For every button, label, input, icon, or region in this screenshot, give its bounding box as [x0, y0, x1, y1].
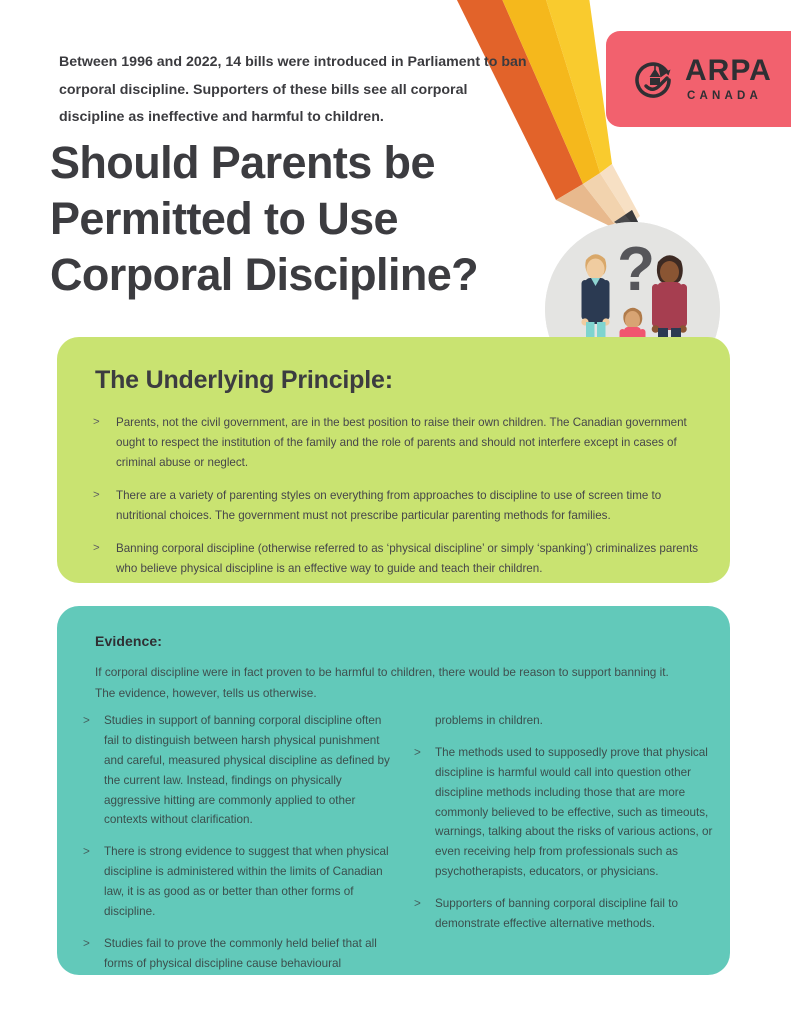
chevron-right-icon: > — [414, 743, 435, 882]
chevron-right-icon: > — [83, 711, 104, 830]
list-item-text: The methods used to supposedly prove tha… — [435, 743, 723, 882]
principle-title: The Underlying Principle: — [95, 366, 393, 395]
principle-bullet-list: > Parents, not the civil government, are… — [93, 413, 699, 592]
arpa-logo-badge[interactable]: ARPA CANADA — [606, 31, 791, 127]
page-title: Should Parents be Permitted to Use Corpo… — [50, 135, 590, 302]
infographic-page: ARPA CANADA Between 1996 and 2022, 14 bi… — [0, 0, 791, 1024]
underlying-principle-panel: The Underlying Principle: > Parents, not… — [57, 337, 730, 583]
arpa-canada-subtitle: CANADA — [685, 90, 772, 102]
list-item: > There is strong evidence to suggest th… — [83, 842, 392, 922]
list-item-text: Supporters of banning corporal disciplin… — [435, 894, 723, 934]
arpa-logo-text: ARPA CANADA — [685, 56, 772, 102]
evidence-bullet-list: > Studies in support of banning corporal… — [83, 711, 723, 974]
list-item-text: There are a variety of parenting styles … — [116, 486, 699, 526]
list-item-text: Banning corporal discipline (otherwise r… — [116, 539, 699, 579]
chevron-right-icon: > — [414, 894, 435, 934]
chevron-right-icon: > — [93, 486, 116, 526]
list-item: > Supporters of banning corporal discipl… — [414, 894, 723, 934]
evidence-panel: Evidence: If corporal discipline were in… — [57, 606, 730, 975]
list-item: > The methods used to supposedly prove t… — [414, 743, 723, 882]
list-item: > Banning corporal discipline (otherwise… — [93, 539, 699, 579]
chevron-right-icon: > — [93, 539, 116, 579]
list-item-text: Parents, not the civil government, are i… — [116, 413, 699, 473]
intro-paragraph: Between 1996 and 2022, 14 bills were int… — [59, 49, 529, 132]
list-item: > Studies in support of banning corporal… — [83, 711, 392, 830]
list-item-text: There is strong evidence to suggest that… — [104, 842, 392, 922]
list-item-text: Studies in support of banning corporal d… — [104, 711, 392, 830]
arpa-wordmark: ARPA — [685, 56, 772, 86]
chevron-right-icon: > — [83, 842, 104, 922]
arpa-parliament-arrow-icon — [632, 56, 678, 102]
evidence-title: Evidence: — [95, 633, 162, 649]
svg-text:?: ? — [617, 235, 655, 304]
list-item: > There are a variety of parenting style… — [93, 486, 699, 526]
list-item: > Parents, not the civil government, are… — [93, 413, 699, 473]
chevron-right-icon: > — [93, 413, 116, 473]
evidence-lede: If corporal discipline were in fact prov… — [95, 662, 681, 704]
